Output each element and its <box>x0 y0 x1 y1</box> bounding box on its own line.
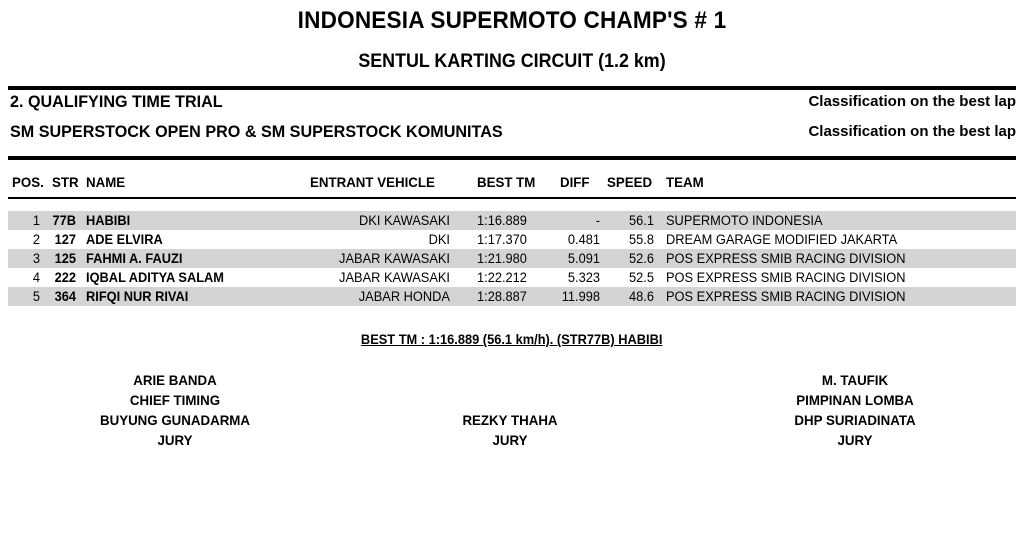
table-row: 177BHABIBIDKI KAWASAKI1:16.889-56.1SUPER… <box>8 211 1016 230</box>
result-team: POS EXPRESS SMIB RACING DIVISION <box>666 251 905 266</box>
result-team: SUPERMOTO INDONESIA <box>666 213 823 228</box>
class-row: SM SUPERSTOCK OPEN PRO & SM SUPERSTOCK K… <box>10 122 1016 144</box>
divider-mid <box>8 156 1016 160</box>
result-team: POS EXPRESS SMIB RACING DIVISION <box>666 289 905 304</box>
signature-right-role: PIMPINAN LOMBA <box>722 390 988 410</box>
result-speed: 52.5 <box>607 270 655 285</box>
column-header-pos: POS. <box>12 174 44 190</box>
result-best-tm: 1:28.887 <box>477 289 527 304</box>
result-str: 127 <box>44 232 76 247</box>
result-entrant-vehicle: DKI KAWASAKI <box>251 213 451 228</box>
column-header-diff: DIFF <box>560 174 590 190</box>
result-best-tm: 1:22.212 <box>477 270 527 285</box>
table-row: 2127ADE ELVIRADKI1:17.3700.48155.8DREAM … <box>8 230 1016 249</box>
result-str: 77B <box>44 213 76 228</box>
signature-right-name-2: DHP SURIADINATA <box>722 410 988 430</box>
circuit-title: SENTUL KARTING CIRCUIT (1.2 km) <box>31 51 994 73</box>
column-header-team: TEAM <box>666 174 704 190</box>
result-name: ADE ELVIRA <box>86 232 163 247</box>
result-entrant-vehicle: DKI <box>251 232 451 247</box>
signature-right-name: M. TAUFIK <box>722 370 988 390</box>
column-header-name: NAME <box>86 174 125 190</box>
signature-right-role-2: JURY <box>722 430 988 450</box>
table-row: 5364RIFQI NUR RIVAIJABAR HONDA1:28.88711… <box>8 287 1016 306</box>
result-best-tm: 1:16.889 <box>477 213 527 228</box>
column-header-speed: SPEED <box>607 174 652 190</box>
signature-left-role-2: JURY <box>42 430 308 450</box>
session-row: 2. QUALIFYING TIME TRIAL Classification … <box>10 92 1016 114</box>
class-classification-note: Classification on the best lap <box>808 123 1016 140</box>
result-speed: 48.6 <box>607 289 655 304</box>
result-name: RIFQI NUR RIVAI <box>86 289 188 304</box>
result-diff: 0.481 <box>539 232 600 247</box>
result-team: POS EXPRESS SMIB RACING DIVISION <box>666 270 905 285</box>
result-name: IQBAL ADITYA SALAM <box>86 270 224 285</box>
result-pos: 2 <box>10 232 40 247</box>
result-speed: 56.1 <box>607 213 655 228</box>
signature-center-role: JURY <box>387 430 634 450</box>
result-entrant-vehicle: JABAR HONDA <box>251 289 451 304</box>
result-name: FAHMI A. FAUZI <box>86 251 182 266</box>
result-entrant-vehicle: JABAR KAWASAKI <box>251 270 451 285</box>
results-table: 177BHABIBIDKI KAWASAKI1:16.889-56.1SUPER… <box>8 211 1016 306</box>
session-classification-note: Classification on the best lap <box>808 93 1016 110</box>
signature-left-role: CHIEF TIMING <box>42 390 308 410</box>
result-pos: 1 <box>10 213 40 228</box>
divider-top <box>8 86 1016 90</box>
signature-left-name-2: BUYUNG GUNADARMA <box>42 410 308 430</box>
result-str: 222 <box>44 270 76 285</box>
table-row: 4222IQBAL ADITYA SALAMJABAR KAWASAKI1:22… <box>8 268 1016 287</box>
result-pos: 5 <box>10 289 40 304</box>
result-pos: 3 <box>10 251 40 266</box>
results-sheet: INDONESIA SUPERMOTO CHAMP'S # 1 SENTUL K… <box>0 0 1024 536</box>
result-diff: 5.323 <box>539 270 600 285</box>
result-str: 125 <box>44 251 76 266</box>
result-str: 364 <box>44 289 76 304</box>
best-time-note-text: BEST TM : 1:16.889 (56.1 km/h). (STR77B)… <box>361 332 662 347</box>
column-header-str: STR <box>52 174 79 190</box>
signature-block-right: M. TAUFIK PIMPINAN LOMBA DHP SURIADINATA… <box>715 370 995 450</box>
best-time-note: BEST TM : 1:16.889 (56.1 km/h). (STR77B)… <box>0 332 1024 347</box>
result-speed: 52.6 <box>607 251 655 266</box>
signature-left-name: ARIE BANDA <box>42 370 308 390</box>
result-team: DREAM GARAGE MODIFIED JAKARTA <box>666 232 897 247</box>
result-best-tm: 1:21.980 <box>477 251 527 266</box>
result-name: HABIBI <box>86 213 130 228</box>
column-header-entrant-vehicle: ENTRANT VEHICLE <box>310 174 435 190</box>
session-label: 2. QUALIFYING TIME TRIAL <box>10 92 223 112</box>
signature-block-center: REZKY THAHA JURY <box>380 410 640 450</box>
result-speed: 55.8 <box>607 232 655 247</box>
class-label: SM SUPERSTOCK OPEN PRO & SM SUPERSTOCK K… <box>10 122 503 142</box>
result-best-tm: 1:17.370 <box>477 232 527 247</box>
divider-column-header <box>8 197 1016 199</box>
result-entrant-vehicle: JABAR KAWASAKI <box>251 251 451 266</box>
result-pos: 4 <box>10 270 40 285</box>
signature-center-name: REZKY THAHA <box>387 410 634 430</box>
table-row: 3125FAHMI A. FAUZIJABAR KAWASAKI1:21.980… <box>8 249 1016 268</box>
column-header-best-tm: BEST TM <box>477 174 535 190</box>
result-diff: - <box>539 213 600 228</box>
signature-block-left: ARIE BANDA CHIEF TIMING BUYUNG GUNADARMA… <box>35 370 315 450</box>
result-diff: 5.091 <box>539 251 600 266</box>
result-diff: 11.998 <box>539 289 600 304</box>
event-title: INDONESIA SUPERMOTO CHAMP'S # 1 <box>31 7 994 35</box>
